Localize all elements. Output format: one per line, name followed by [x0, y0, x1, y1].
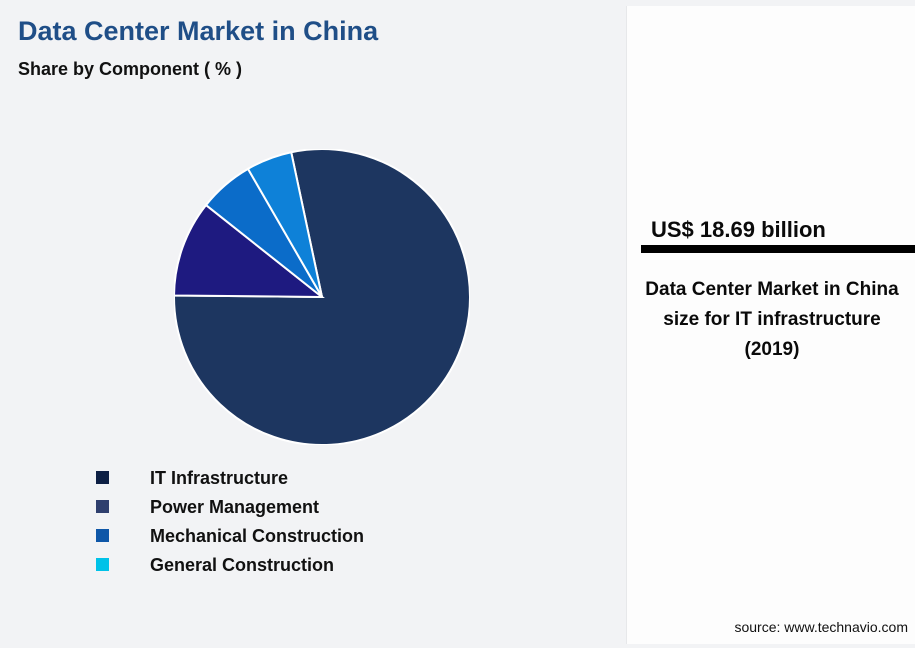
- pie-chart: [174, 149, 470, 445]
- chart-subtitle: Share by Component ( % ): [18, 59, 242, 80]
- legend-item-label: Power Management: [150, 498, 319, 516]
- page-title: Data Center Market in China: [18, 16, 378, 47]
- infographic-canvas: Data Center Market in China Share by Com…: [0, 0, 915, 648]
- legend-item[interactable]: IT Infrastructure: [96, 463, 576, 492]
- chart-panel: Data Center Market in China Share by Com…: [0, 0, 620, 648]
- kpi-panel: US$ 18.69 billion Data Center Market in …: [626, 6, 915, 644]
- legend-item-label: Mechanical Construction: [150, 527, 364, 545]
- legend-swatch-icon: [96, 558, 109, 571]
- legend-item[interactable]: Power Management: [96, 492, 576, 521]
- legend-swatch-icon: [96, 529, 109, 542]
- kpi-caption: Data Center Market in China size for IT …: [643, 275, 901, 365]
- legend-item[interactable]: General Construction: [96, 550, 576, 579]
- chart-legend: IT InfrastructurePower ManagementMechani…: [96, 463, 576, 579]
- kpi-divider: [641, 245, 915, 253]
- legend-swatch-icon: [96, 471, 109, 484]
- kpi-value: US$ 18.69 billion: [651, 217, 826, 243]
- source-note: source: www.technavio.com: [627, 619, 908, 635]
- pie-slice-group: [174, 149, 470, 445]
- legend-item-label: IT Infrastructure: [150, 469, 288, 487]
- legend-swatch-icon: [96, 500, 109, 513]
- legend-item-label: General Construction: [150, 556, 334, 574]
- pie-chart-svg: [174, 149, 470, 445]
- legend-item[interactable]: Mechanical Construction: [96, 521, 576, 550]
